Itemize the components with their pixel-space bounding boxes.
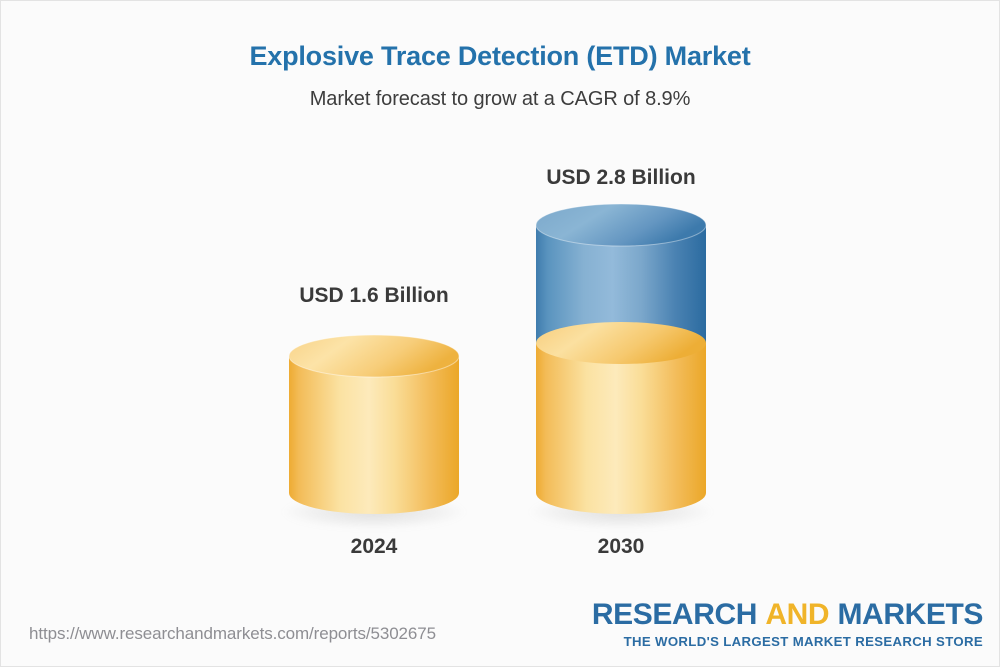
bar-group-2024: USD 1.6 Billion (289, 1, 459, 601)
brand-tagline: THE WORLD'S LARGEST MARKET RESEARCH STOR… (592, 635, 983, 648)
bar-value-label-2024: USD 1.6 Billion (289, 284, 459, 308)
bar-value-label-2030: USD 2.8 Billion (536, 166, 706, 190)
brand-name-and: AND (765, 598, 829, 631)
brand-name-research: RESEARCH (592, 598, 757, 631)
brand-name-markets: MARKETS (837, 598, 983, 631)
report-url[interactable]: https://www.researchandmarkets.com/repor… (29, 624, 436, 644)
chart-canvas: Explosive Trace Detection (ETD) Market M… (0, 0, 1000, 667)
bar-category-label-2024: 2024 (289, 535, 459, 559)
bar-cylinder-2024 (289, 335, 459, 525)
bar-cylinder-2030 (536, 204, 706, 525)
bar-category-label-2030: 2030 (536, 535, 706, 559)
brand-name: RESEARCH AND MARKETS (592, 600, 983, 630)
bar-chart-plot: USD 1.6 Billion (1, 1, 1000, 601)
bar-group-2030: USD 2.8 Billion (536, 1, 706, 601)
brand-logo: RESEARCH AND MARKETS THE WORLD'S LARGEST… (592, 600, 983, 648)
